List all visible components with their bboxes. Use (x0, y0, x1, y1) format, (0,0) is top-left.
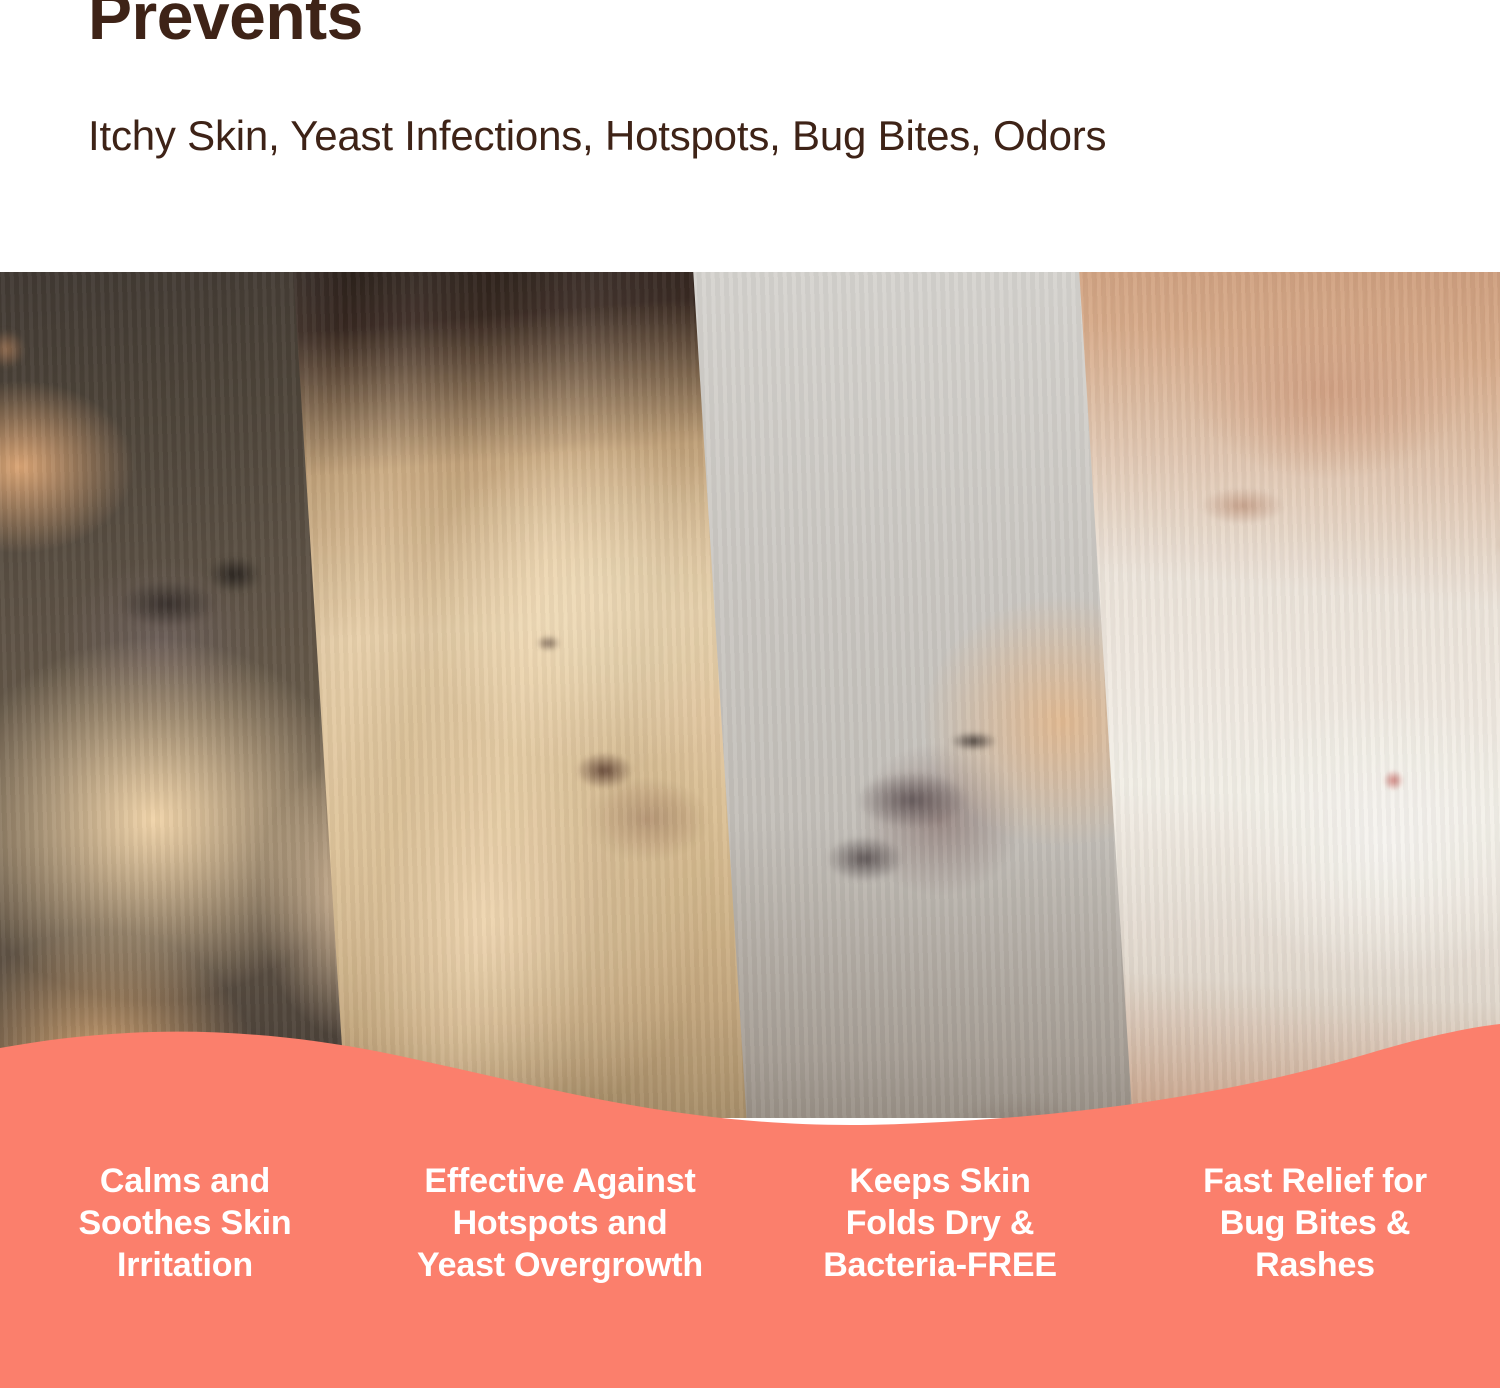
benefit-item-hotspots-yeast: Effective Against Hotspots and Yeast Ove… (370, 1160, 750, 1286)
benefit-line: Hotspots and (370, 1202, 750, 1244)
benefit-line: Soothes Skin (0, 1202, 370, 1244)
benefit-item-bug-bites: Fast Relief for Bug Bites & Rashes (1130, 1160, 1500, 1286)
benefit-line: Rashes (1130, 1244, 1500, 1286)
benefit-line: Yeast Overgrowth (370, 1244, 750, 1286)
benefits-list: Calms and Soothes Skin Irritation Effect… (0, 1160, 1500, 1286)
benefit-line: Bug Bites & (1130, 1202, 1500, 1244)
page-title: Prevents (88, 0, 363, 51)
benefit-line: Bacteria-FREE (750, 1244, 1130, 1286)
benefits-section: Calms and Soothes Skin Irritation Effect… (0, 990, 1500, 1388)
benefit-item-calms-soothes: Calms and Soothes Skin Irritation (0, 1160, 370, 1286)
benefit-item-skin-folds: Keeps Skin Folds Dry & Bacteria-FREE (750, 1160, 1130, 1286)
benefit-line: Fast Relief for (1130, 1160, 1500, 1202)
benefit-line: Irritation (0, 1244, 370, 1286)
product-feature-banner: Prevents Itchy Skin, Yeast Infections, H… (0, 0, 1500, 1388)
page-subtitle: Itchy Skin, Yeast Infections, Hotspots, … (88, 112, 1106, 160)
benefit-line: Keeps Skin (750, 1160, 1130, 1202)
benefit-line: Calms and (0, 1160, 370, 1202)
header-section: Prevents Itchy Skin, Yeast Infections, H… (0, 0, 1500, 272)
benefit-line: Effective Against (370, 1160, 750, 1202)
benefit-line: Folds Dry & (750, 1202, 1130, 1244)
